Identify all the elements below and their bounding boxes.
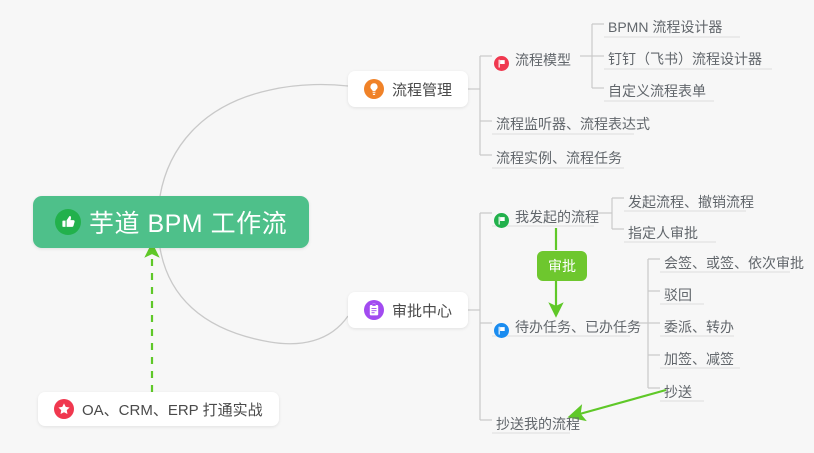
branch-approval-center[interactable]: 审批中心: [348, 292, 468, 328]
branch-label: 审批中心: [392, 300, 452, 321]
node-label: 流程模型: [515, 53, 571, 71]
node-delegate-transfer[interactable]: 委派、转办: [660, 308, 742, 338]
root-label: 芋道 BPM 工作流: [89, 204, 287, 240]
node-label: 流程监听器、流程表达式: [496, 117, 650, 135]
node-label: BPMN 流程设计器: [608, 20, 722, 38]
node-todo-done-tasks[interactable]: 待办任务、已办任务: [492, 308, 649, 338]
node-process-instance-task[interactable]: 流程实例、流程任务: [492, 139, 630, 169]
annotation-tag-label: 审批: [548, 256, 576, 276]
node-bpmn-designer[interactable]: BPMN 流程设计器: [604, 8, 730, 38]
branch-process-management[interactable]: 流程管理: [348, 71, 468, 107]
root-node[interactable]: 芋道 BPM 工作流: [33, 196, 309, 248]
annotation-tag-approval: 审批: [537, 251, 587, 281]
node-label: 流程实例、流程任务: [496, 151, 622, 169]
node-assignee-approval[interactable]: 指定人审批: [624, 214, 706, 244]
star-icon: [54, 399, 74, 419]
node-add-remove-sign[interactable]: 加签、减签: [660, 340, 742, 370]
branch-label: 流程管理: [392, 79, 452, 100]
node-label: 驳回: [664, 288, 692, 306]
annotation-arrow-cc: [576, 390, 666, 415]
node-process-model[interactable]: 流程模型: [492, 41, 579, 71]
node-label: 钉钉（飞书）流程设计器: [608, 52, 762, 70]
node-label: 自定义流程表单: [608, 84, 706, 102]
node-my-initiated-process[interactable]: 我发起的流程: [492, 198, 607, 228]
node-carbon-copy[interactable]: 抄送: [660, 373, 700, 403]
node-label: 委派、转办: [664, 320, 734, 338]
node-dingtalk-feishu-designer[interactable]: 钉钉（飞书）流程设计器: [604, 40, 770, 70]
mindmap-canvas: 芋道 BPM 工作流 流程管理 流程模型 BPMN 流程设计器 钉钉（飞书: [0, 0, 814, 453]
node-label: 抄送我的流程: [496, 417, 580, 435]
node-process-listener-expression[interactable]: 流程监听器、流程表达式: [492, 105, 658, 135]
thumbs-up-icon: [55, 209, 81, 235]
flag-icon: [494, 56, 509, 71]
clipboard-icon: [364, 300, 384, 320]
node-label: 抄送: [664, 385, 692, 403]
node-custom-process-form[interactable]: 自定义流程表单: [604, 72, 714, 102]
lightbulb-icon: [364, 79, 384, 99]
node-label: 指定人审批: [628, 226, 698, 244]
flag-icon: [494, 323, 509, 338]
node-label: 加签、减签: [664, 352, 734, 370]
node-start-cancel-process[interactable]: 发起流程、撤销流程: [624, 183, 762, 213]
node-reject[interactable]: 驳回: [660, 276, 700, 306]
node-countersign-or-sequential[interactable]: 会签、或签、依次审批: [660, 244, 812, 274]
node-label: 待办任务、已办任务: [515, 320, 641, 338]
node-label: 发起流程、撤销流程: [628, 195, 754, 213]
node-label: 会签、或签、依次审批: [664, 256, 804, 274]
footnote-integration-note[interactable]: OA、CRM、ERP 打通实战: [38, 392, 279, 426]
flag-icon: [494, 213, 509, 228]
node-cc-my-process[interactable]: 抄送我的流程: [492, 405, 588, 435]
footnote-label: OA、CRM、ERP 打通实战: [82, 399, 263, 420]
node-label: 我发起的流程: [515, 210, 599, 228]
